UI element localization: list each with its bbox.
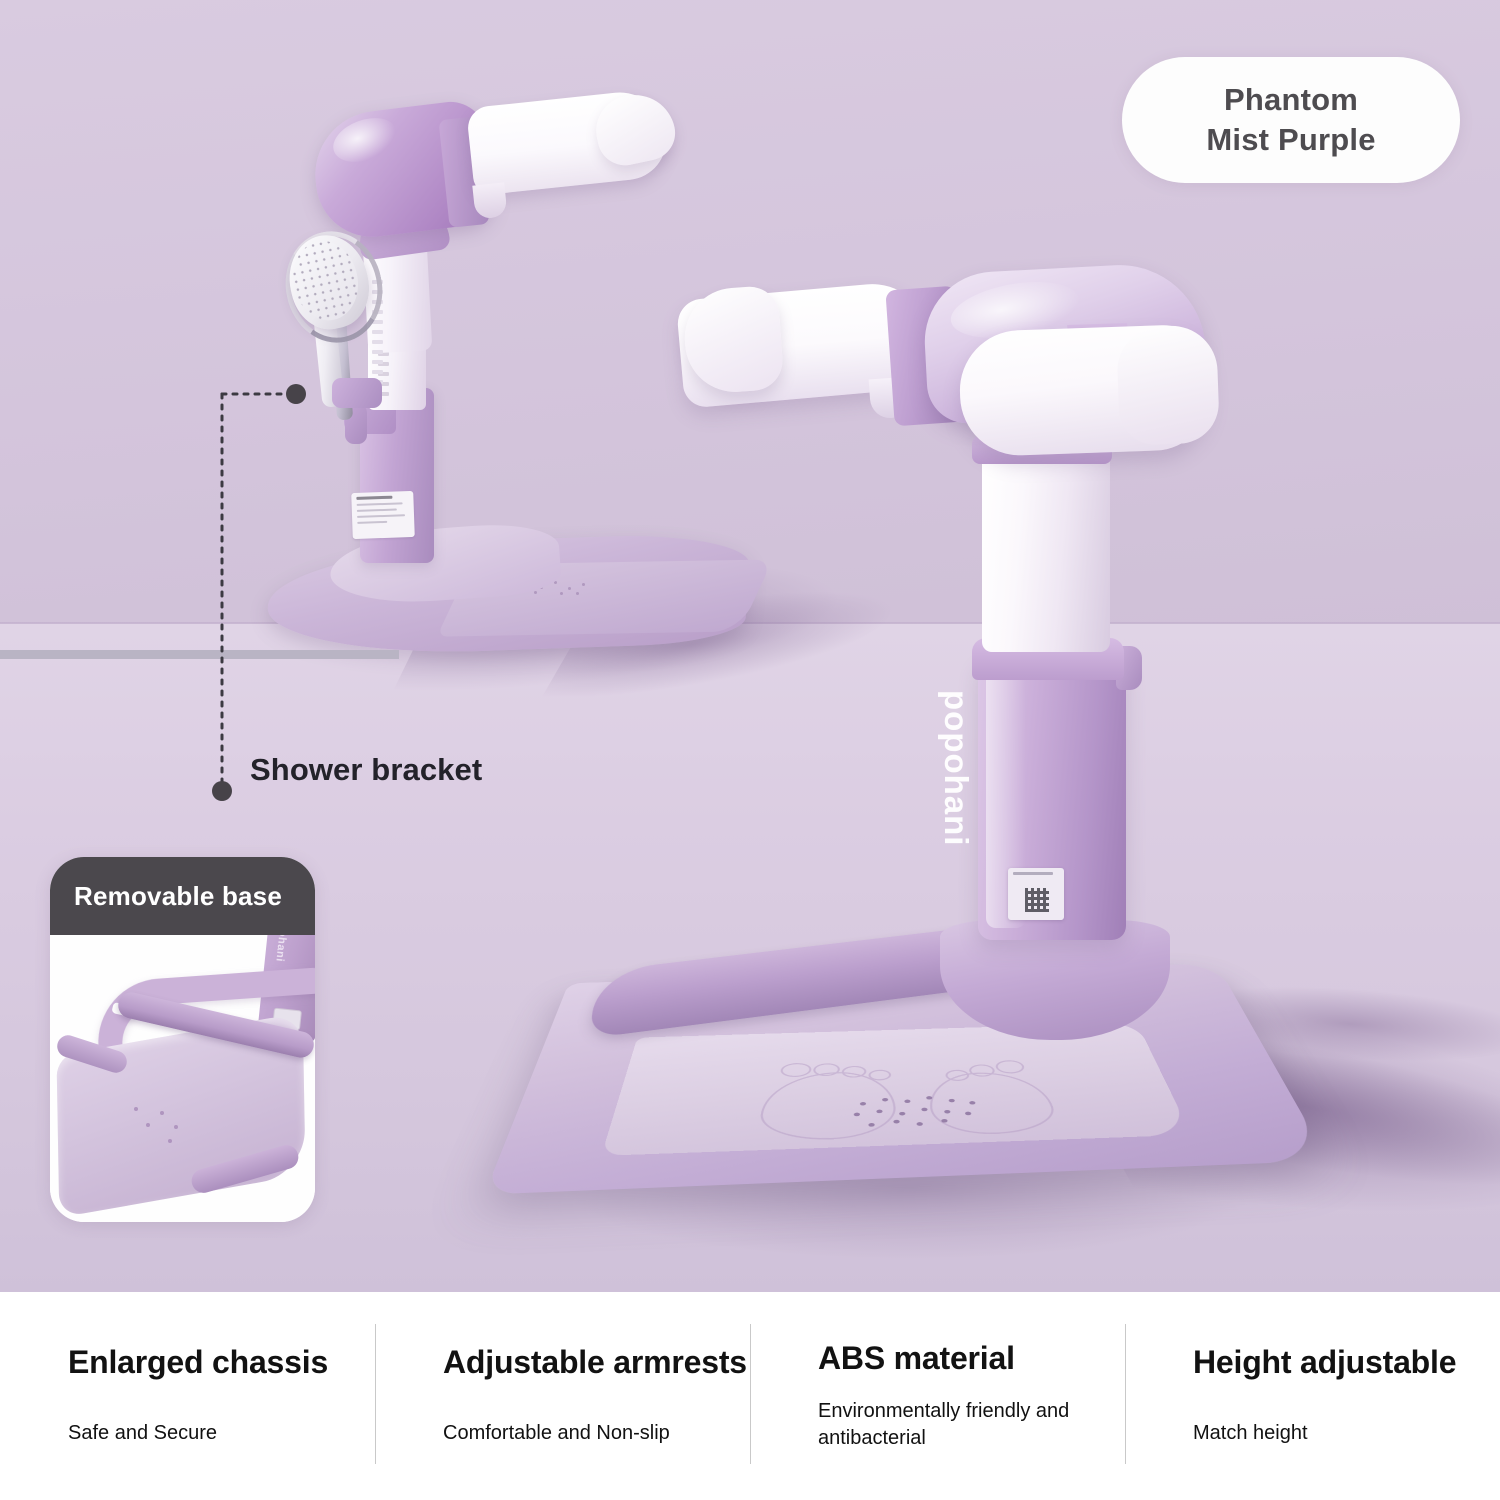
main-product-right-armrest-cap: [1116, 324, 1220, 445]
main-product-spec-sticker: [1008, 868, 1064, 920]
qr-code-icon: [1025, 888, 1049, 912]
main-product-drain-holes: [849, 1094, 986, 1132]
main-product-white-tube: [982, 452, 1110, 652]
footprint-toe: [780, 1063, 812, 1078]
feature-title: Height adjustable: [1193, 1345, 1500, 1380]
product-photo-scene: popohani: [0, 0, 1500, 1292]
feature-subtitle: Comfortable and Non-slip: [443, 1420, 750, 1446]
feature-subtitle: Safe and Secure: [68, 1420, 375, 1446]
feature-item-height-adjustable: Height adjustable Match height: [1125, 1292, 1500, 1500]
inset-header-label: Removable base: [74, 881, 282, 912]
inset-drain-hole: [146, 1123, 150, 1127]
product-feature-image: popohani: [0, 0, 1500, 1500]
feature-title: Adjustable armrests: [443, 1345, 750, 1380]
color-variant-badge[interactable]: Phantom Mist Purple: [1122, 57, 1460, 183]
color-variant-label: Phantom Mist Purple: [1206, 80, 1375, 159]
inset-drain-hole: [134, 1107, 138, 1111]
feature-title: ABS material: [818, 1341, 1125, 1376]
back-product-spec-label: [351, 491, 415, 539]
inset-drain-hole: [168, 1139, 172, 1143]
footprint-toe: [994, 1060, 1026, 1074]
inset-drain-hole: [160, 1111, 164, 1115]
feature-subtitle: Environmentally friendly and antibacteri…: [818, 1398, 1125, 1451]
removable-base-inset-panel[interactable]: popohani Removable base: [50, 857, 315, 1222]
inset-panel-header: Removable base: [50, 857, 315, 935]
feature-title: Enlarged chassis: [68, 1345, 375, 1380]
feature-item-abs-material: ABS material Environmentally friendly an…: [750, 1292, 1125, 1500]
inset-drain-hole: [174, 1125, 178, 1129]
feature-subtitle: Match height: [1193, 1420, 1500, 1446]
main-shower-chair-product: popohani: [520, 260, 1280, 1220]
footprint-toe: [868, 1069, 891, 1080]
brand-logo-text: popohani: [935, 690, 975, 890]
feature-item-enlarged-chassis: Enlarged chassis Safe and Secure: [0, 1292, 375, 1500]
feature-item-adjustable-armrests: Adjustable armrests Comfortable and Non-…: [375, 1292, 750, 1500]
shower-bracket-holder: [332, 378, 382, 408]
feature-highlight-bar: Enlarged chassis Safe and Secure Adjusta…: [0, 1292, 1500, 1500]
